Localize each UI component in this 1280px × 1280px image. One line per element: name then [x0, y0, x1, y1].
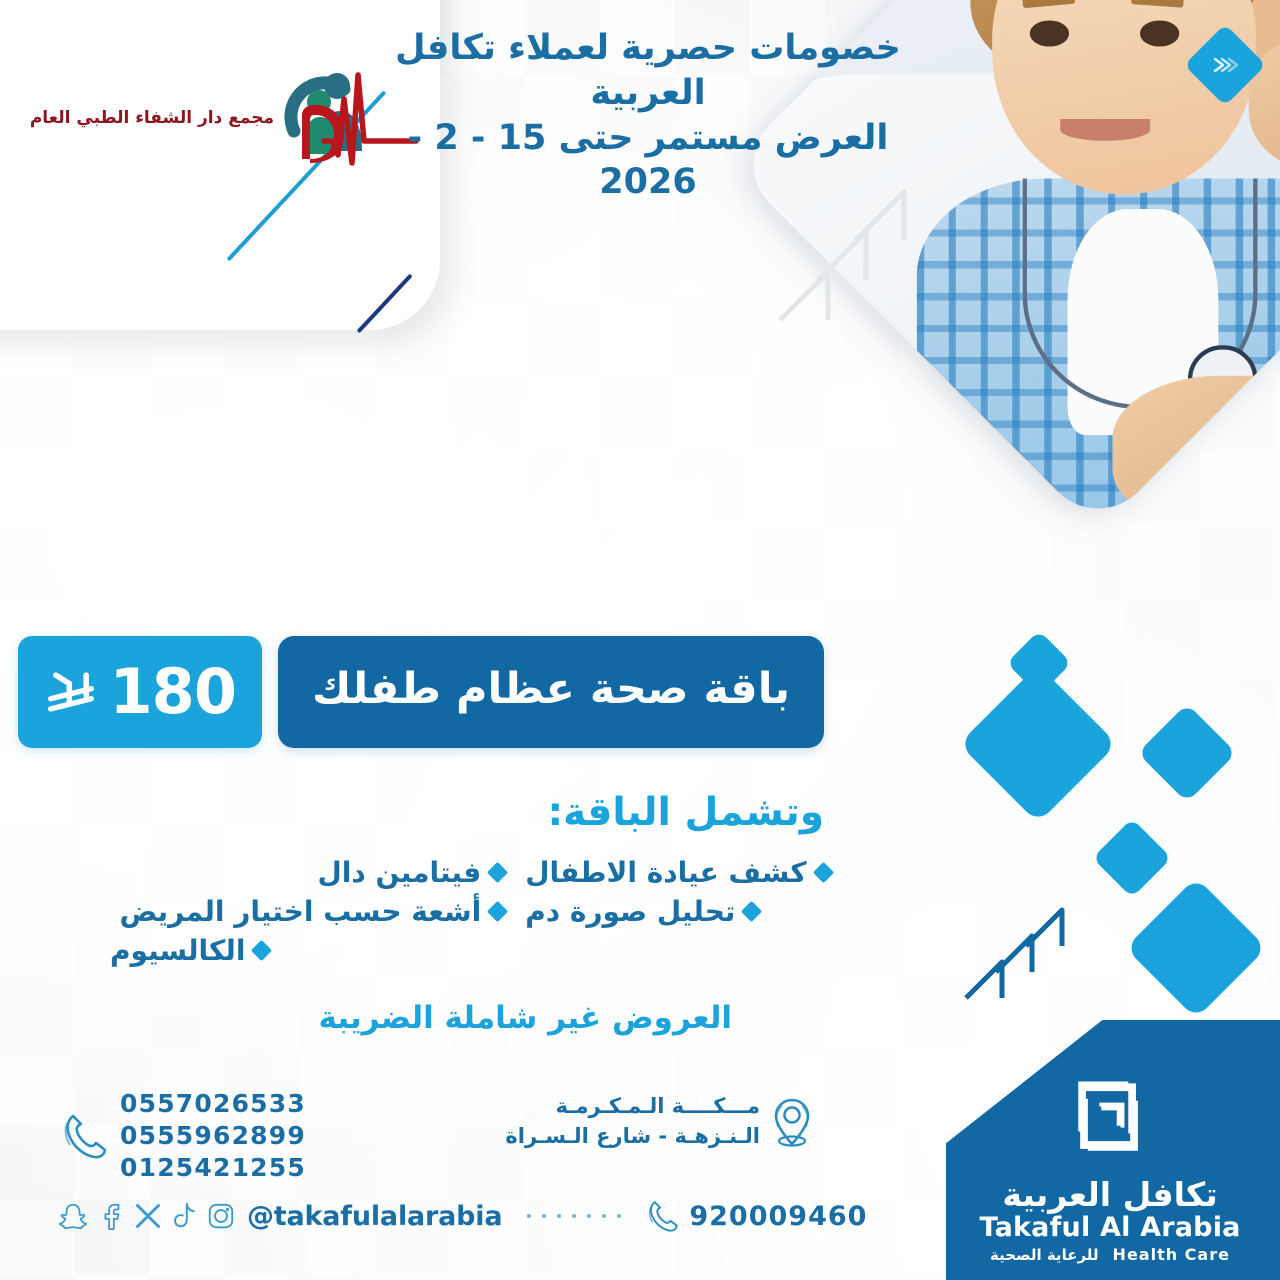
takaful-interlocking-squares-logo-icon	[1057, 1068, 1163, 1170]
bullet-diamond-icon	[487, 901, 508, 922]
price-badge: 180	[18, 636, 262, 748]
brand-subtitle-ar: للرعاية الصحية	[990, 1246, 1099, 1264]
bullet-diamond-icon	[812, 862, 833, 883]
list-item: أشعة حسب اختيار المريض	[119, 895, 505, 928]
services-list: كشف عيادة الاطفال فيتامين دال تحليل صورة…	[110, 856, 840, 967]
phones-block: 0557026533 0555962899 0125421255	[62, 1088, 306, 1184]
service-label: أشعة حسب اختيار المريض	[119, 895, 481, 928]
address-block: مـــكــــة الـمـكـرمـة الـنـزهـة - شارع …	[505, 1092, 814, 1152]
bullet-diamond-icon	[487, 862, 508, 883]
list-item: فيتامين دال	[318, 856, 506, 889]
hotline-number[interactable]: 920009460	[689, 1201, 867, 1232]
address-street: الـنـزهـة - شارع الـسـراة	[505, 1122, 760, 1152]
brand-logo-block: تكافل العربية Takaful Al Arabia Health C…	[940, 1012, 1280, 1280]
social-handle[interactable]: @takafulalarabia	[247, 1201, 502, 1232]
offer-row: باقة صحة عظام طفلك 180	[18, 636, 824, 748]
brand-name-en: Takaful Al Arabia	[979, 1213, 1240, 1243]
tax-note: العروض غير شاملة الضريبة	[319, 1000, 732, 1036]
service-label: تحليل صورة دم	[525, 895, 735, 928]
chevron-arrows-decoration-bottom	[960, 890, 1100, 1020]
list-item: كشف عيادة الاطفال	[525, 856, 830, 889]
saudi-riyal-symbol-icon	[44, 665, 98, 719]
service-label: كشف عيادة الاطفال	[525, 856, 806, 889]
brand-name-ar: تكافل العربية	[1002, 1178, 1217, 1211]
brand-subtitle-en: Health Care	[1113, 1245, 1230, 1264]
phone-number: 0125421255	[120, 1152, 306, 1184]
includes-heading: وتشمل الباقة:	[548, 790, 824, 835]
service-label: الكالسيوم	[110, 934, 245, 967]
tiktok-icon[interactable]	[171, 1201, 197, 1231]
dotted-separator	[527, 1214, 621, 1218]
phone-numbers: 0557026533 0555962899 0125421255	[120, 1088, 306, 1184]
phone-number: 0555962899	[120, 1120, 306, 1152]
chevron-signal-icon	[1212, 54, 1238, 76]
poster-canvas: مجمع دار الشفاء الطبي العام	[0, 0, 1280, 1280]
address-city: مـــكــــة الـمـكـرمـة	[505, 1092, 760, 1122]
package-title: باقة صحة عظام طفلك	[312, 664, 790, 714]
list-item: تحليل صورة دم	[525, 895, 759, 928]
snapchat-icon[interactable]	[58, 1201, 88, 1231]
bullet-diamond-icon	[741, 901, 762, 922]
clinic-logo: مجمع دار الشفاء الطبي العام	[22, 58, 422, 178]
service-label: فيتامين دال	[318, 856, 482, 889]
header-line-1: خصومات حصرية لعملاء تكافل العربية	[368, 26, 928, 116]
phone-handset-icon	[646, 1198, 680, 1234]
clinic-name: مجمع دار الشفاء الطبي العام	[30, 108, 274, 128]
bullet-diamond-icon	[251, 940, 272, 961]
phone-number: 0557026533	[120, 1088, 306, 1120]
location-pin-icon	[770, 1094, 814, 1150]
phone-handset-icon	[62, 1110, 108, 1162]
social-row: @takafulalarabia 920009460	[58, 1198, 867, 1234]
brand-subtitle: Health Care للرعاية الصحية	[990, 1245, 1230, 1264]
chevron-arrows-decoration-top	[770, 160, 1020, 390]
list-item: الكالسيوم	[110, 934, 269, 967]
address-lines: مـــكــــة الـمـكـرمـة الـنـزهـة - شارع …	[505, 1092, 760, 1152]
facebook-icon[interactable]	[97, 1201, 125, 1231]
package-title-badge: باقة صحة عظام طفلك	[278, 636, 824, 748]
x-twitter-icon[interactable]	[134, 1202, 162, 1230]
instagram-icon[interactable]	[206, 1201, 236, 1231]
price-amount: 180	[110, 661, 236, 723]
